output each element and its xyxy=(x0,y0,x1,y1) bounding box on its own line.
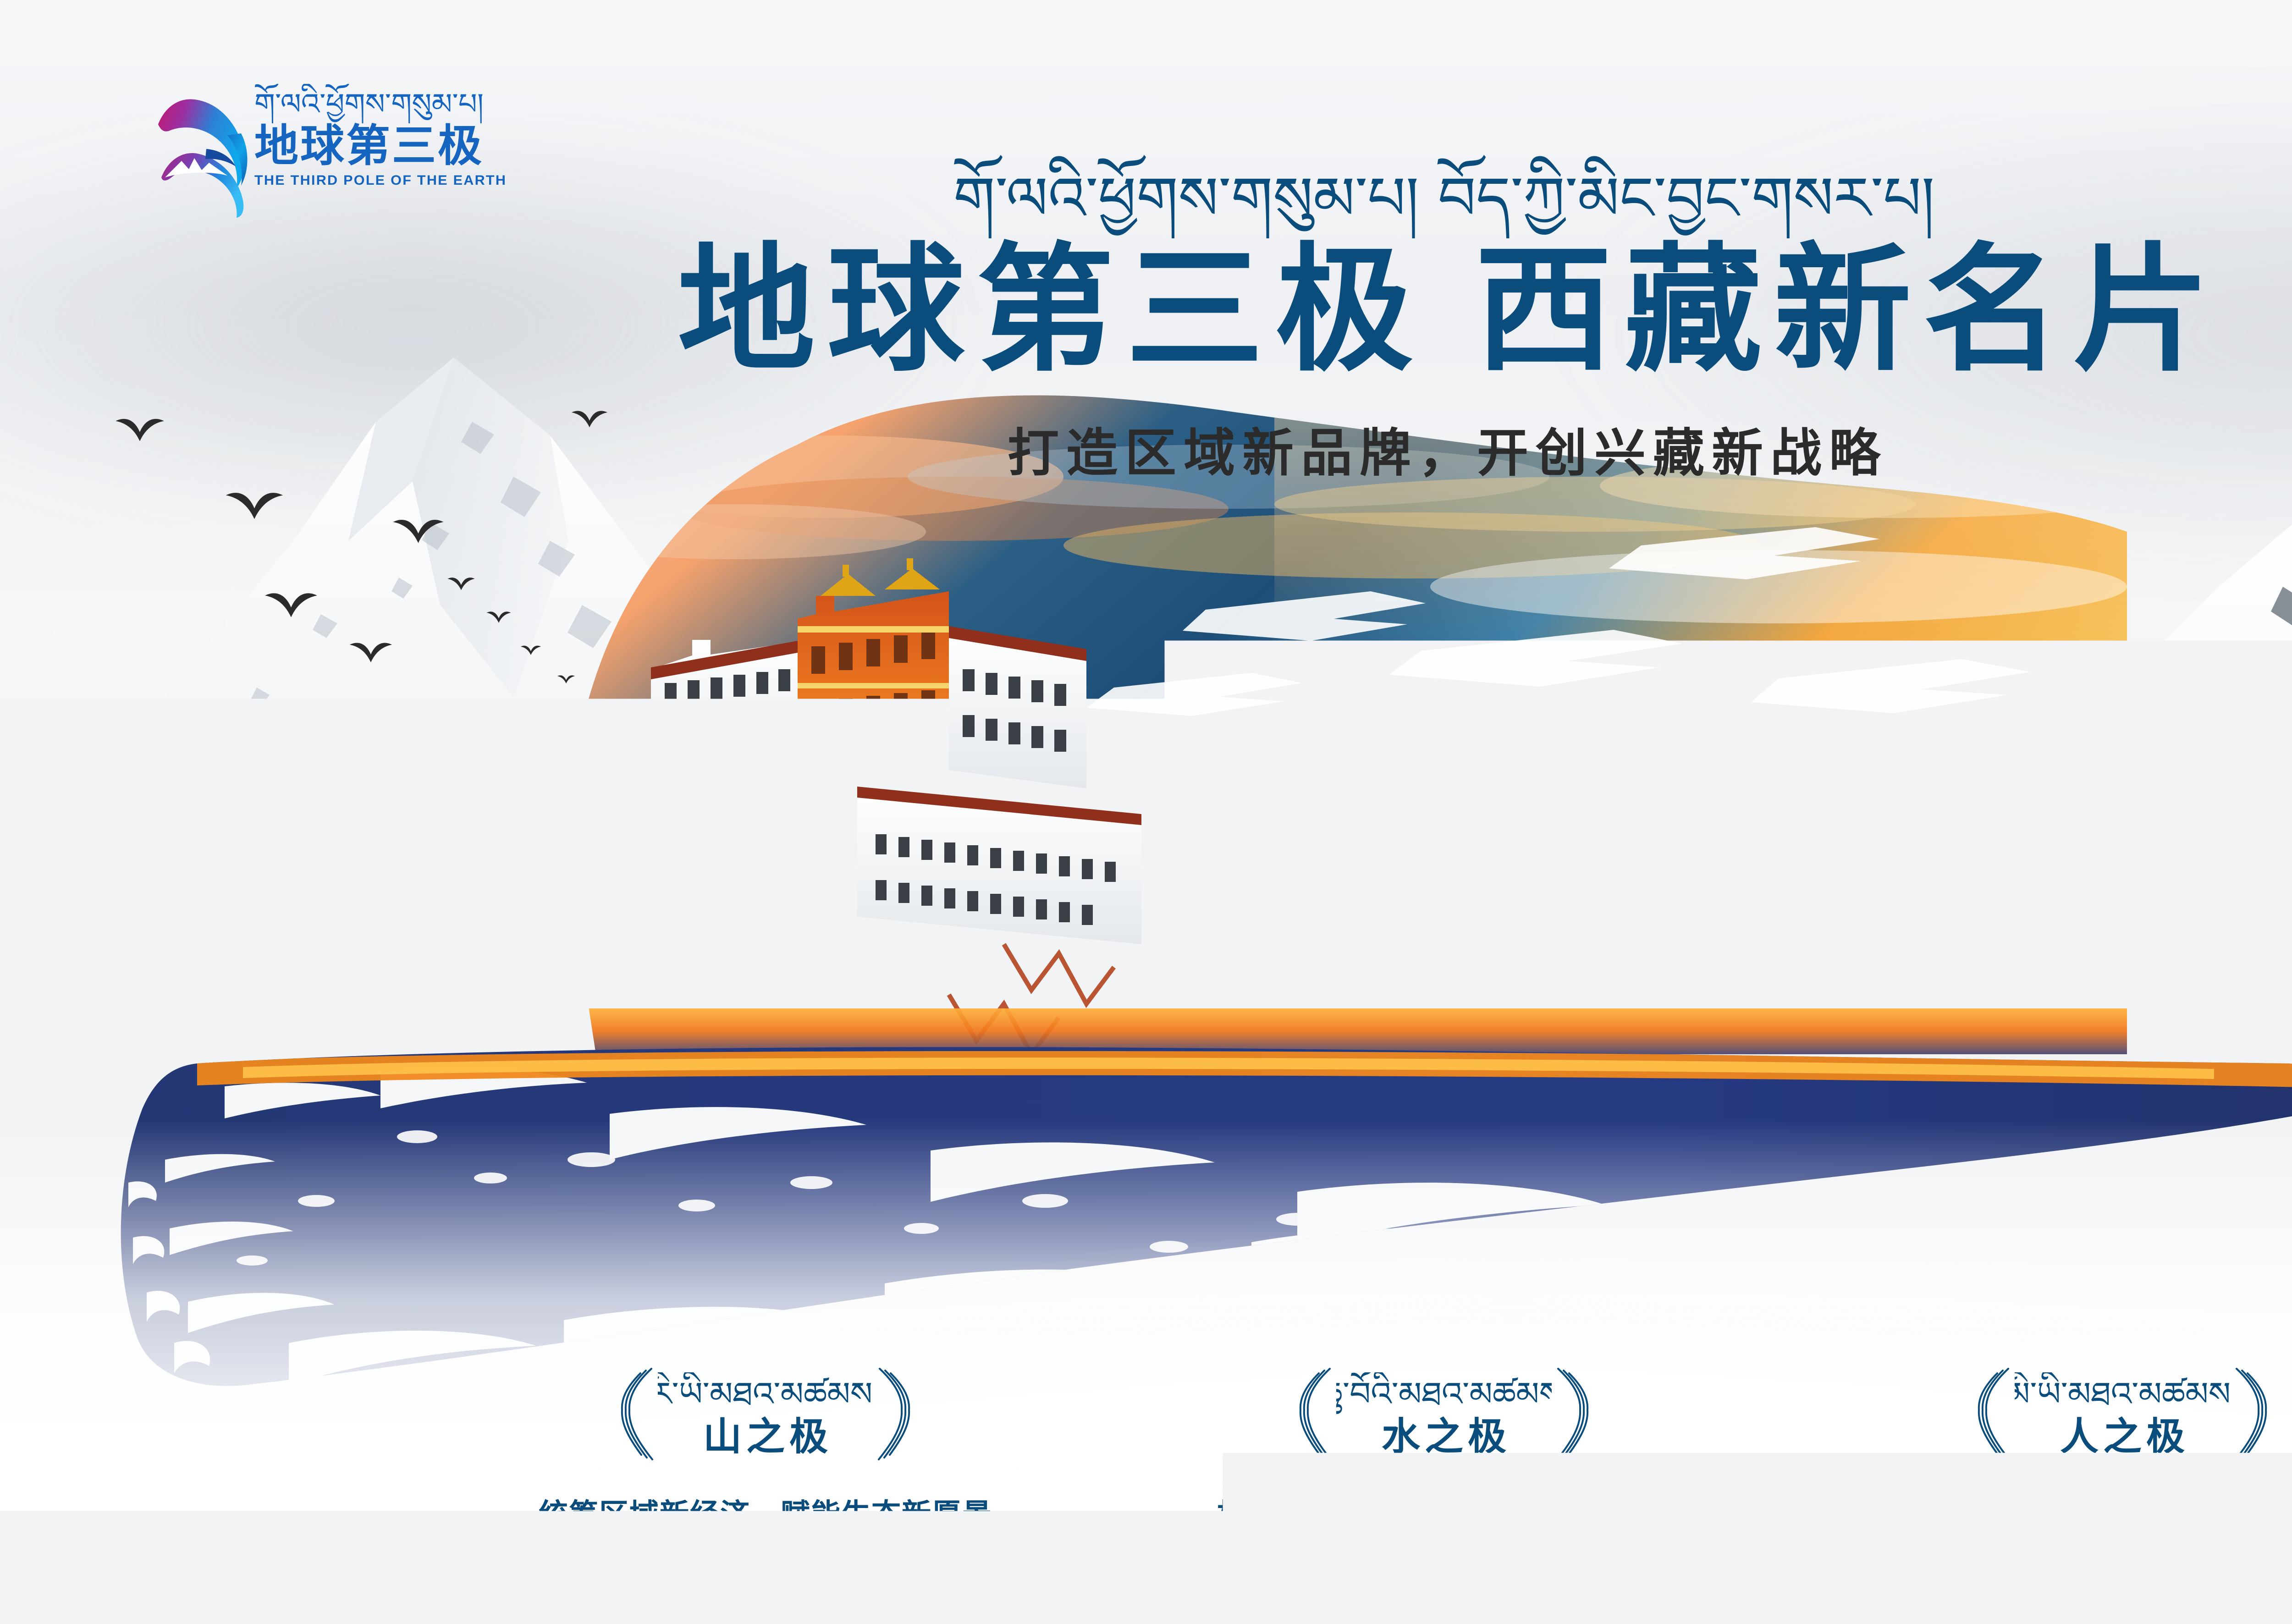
pillar-label-core: མི་ཡི་མཐའ་མཚམས། 人之极 xyxy=(2015,1372,2230,1456)
pillar-title: 水之极 xyxy=(1336,1417,1552,1456)
right-bracket-icon xyxy=(873,1366,915,1462)
svg-text:ཆུ་བོའི་མཐའ་མཚམས།: ཆུ་བོའི་མཐའ་མཚམས། xyxy=(1336,1372,1552,1415)
right-bracket-icon xyxy=(1552,1366,1593,1462)
svg-text:གོ་ལའི་ཕྱོགས་གསུམ་པ།: གོ་ལའི་ཕྱོགས་གསུམ་པ། xyxy=(254,84,484,123)
bird-silhouette-icon xyxy=(264,589,319,618)
bird-silhouette-icon xyxy=(486,610,512,623)
svg-text:མི་ཡི་མཐའ་མཚམས།: མི་ཡི་མཐའ་མཚམས། xyxy=(2015,1372,2230,1415)
pillar-badge: ཆུ་བོའི་མཐའ་མཚམས། 水之极 xyxy=(1215,1364,1673,1464)
pillar-tibetan-label: མི་ཡི་མཐའ་མཚམས། xyxy=(2015,1372,2230,1415)
poster-canvas: གོ་ལའི་ཕྱོགས་གསུམ་པ། 地球第三极 THE THIRD POL… xyxy=(0,0,2292,1624)
bird-silhouette-icon xyxy=(380,706,401,717)
pillar-badge: རི་ཡི་མཐའ་མཚམས། 山之极 xyxy=(536,1364,995,1464)
page-subtitle: 打造区域新品牌，开创兴藏新战略 xyxy=(0,412,2292,486)
pillar-badge: མི་ཡི་མཐའ་མཚམས། 人之极 xyxy=(1893,1364,2292,1464)
left-bracket-icon xyxy=(1295,1366,1336,1462)
svg-text:རི་ཡི་མཐའ་མཚམས།: རི་ཡི་མཐའ་མཚམས། xyxy=(658,1372,873,1415)
right-bracket-icon xyxy=(2230,1366,2271,1462)
bird-silhouette-icon xyxy=(394,743,410,751)
pillars-row: རི་ཡི་མཐའ་མཚམས། 山之极 统筹区域新经济，赋能生态新愿景 xyxy=(0,1364,2292,1533)
pillar-title: 人之极 xyxy=(2015,1417,2230,1456)
left-bracket-icon xyxy=(1973,1366,2015,1462)
pillar-label-core: རི་ཡི་མཐའ་མཚམས། 山之极 xyxy=(658,1372,873,1456)
bird-silhouette-icon xyxy=(225,488,284,520)
bird-silhouette-icon xyxy=(447,575,475,591)
headline-block: གོ་ལའི་ཕྱོགས་གསུམ་པ། བོད་ཀྱི་མིང་བྱང་གསར… xyxy=(0,151,2292,486)
bird-silhouette-icon xyxy=(557,674,575,684)
pillar-people[interactable]: མི་ཡི་མཐའ་མཚམས། 人之极 站位时代新起点，彰显发展新高度 xyxy=(1893,1364,2292,1533)
pillar-water[interactable]: ཆུ་བོའི་མཐའ་མཚམས། 水之极 构建产业新模式，深化产业新变革 xyxy=(1215,1364,1673,1533)
pillar-tibetan-label: ཆུ་བོའི་མཐའ་མཚམས། xyxy=(1336,1372,1552,1415)
bird-silhouette-icon xyxy=(520,644,541,655)
left-bracket-icon xyxy=(617,1366,658,1462)
headline-tibetan: གོ་ལའི་ཕྱོགས་གསུམ་པ། བོད་ཀྱི་མིང་བྱང་གསར… xyxy=(894,151,1994,238)
bird-silhouette-icon xyxy=(348,639,393,663)
svg-text:གོ་ལའི་ཕྱོགས་གསུམ་པ། བོད་ཀྱི་མ: གོ་ལའི་ཕྱོགས་གསུམ་པ། བོད་ཀྱི་མིང་བྱང་གསར… xyxy=(953,154,1935,238)
bird-silhouette-icon xyxy=(392,516,445,544)
pillar-description: 站位时代新起点，彰显发展新高度 xyxy=(1893,1491,2292,1533)
brand-tibetan-name: གོ་ལའི་ཕྱོགས་གསུམ་པ། xyxy=(254,84,511,123)
pillar-description: 统筹区域新经济，赋能生态新愿景 xyxy=(536,1491,995,1533)
pillar-description: 构建产业新模式，深化产业新变革 xyxy=(1215,1491,1673,1533)
pillar-tibetan-label: རི་ཡི་མཐའ་མཚམས། xyxy=(658,1372,873,1415)
pillar-label-core: ཆུ་བོའི་མཐའ་མཚམས། 水之极 xyxy=(1336,1372,1552,1456)
pillar-title: 山之极 xyxy=(658,1417,873,1456)
page-title: 地球第三极 西藏新名片 xyxy=(0,241,2292,379)
pillar-mountain[interactable]: རི་ཡི་མཐའ་མཚམས། 山之极 统筹区域新经济，赋能生态新愿景 xyxy=(536,1364,995,1533)
